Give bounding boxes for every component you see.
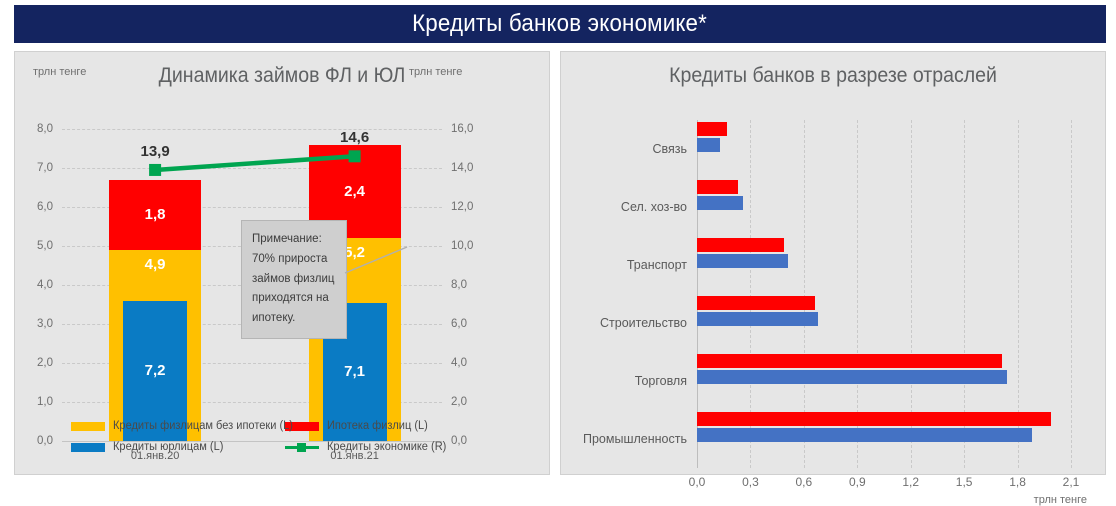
- bar-row: Торговля: [697, 352, 1071, 410]
- legend-label: Кредиты юрлицам (L): [113, 441, 223, 453]
- legend-swatch-yellow-icon: [71, 422, 105, 431]
- bar-jan-2020: [697, 254, 788, 268]
- bar-jan-2021: [697, 296, 815, 310]
- bar-row: Транспорт: [697, 236, 1071, 294]
- note-leader-line: [345, 247, 407, 273]
- x-axis-tick: 1,5: [956, 475, 973, 489]
- left-axis-tick: 6,0: [37, 201, 53, 213]
- right-axis-tick: 2,0: [451, 396, 467, 408]
- line-data-label: 14,6: [340, 129, 369, 146]
- left-axis-tick: 5,0: [37, 240, 53, 252]
- left-chart-legend: Кредиты физлицам без ипотеки (L)Ипотека …: [71, 420, 501, 453]
- x-axis-tick: 0,6: [796, 475, 813, 489]
- left-bar-group: 4,91,87,201.янв.20: [109, 129, 201, 441]
- bar-jan-2021: [697, 412, 1051, 426]
- bar-row: Строительство: [697, 294, 1071, 352]
- legend-item[interactable]: Кредиты юрлицам (L): [71, 441, 285, 453]
- right-chart-panel: Кредиты банков в разрезе отраслей трлн т…: [560, 51, 1106, 475]
- left-axis-tick: 4,0: [37, 279, 53, 291]
- bar-segment-mortgage: 1,8: [109, 180, 201, 250]
- right-axis-tick: 6,0: [451, 318, 467, 330]
- bar-jan-2021: [697, 238, 784, 252]
- right-axis-tick: 10,0: [451, 240, 473, 252]
- category-label: Промышленность: [583, 432, 687, 446]
- legend-item[interactable]: Кредиты физлицам без ипотеки (L): [71, 420, 285, 432]
- right-axis-tick: 12,0: [451, 201, 473, 213]
- bar-jan-2021: [697, 180, 738, 194]
- legend-label: Кредиты экономике (R): [327, 441, 446, 453]
- right-axis-tick: 14,0: [451, 162, 473, 174]
- category-label: Торговля: [635, 374, 687, 388]
- category-label: Сел. хоз-во: [621, 200, 687, 214]
- left-axis-tick: 0,0: [37, 435, 53, 447]
- x-axis-tick: 0,0: [689, 475, 706, 489]
- left-axis-tick: 7,0: [37, 162, 53, 174]
- bar-jan-2020: [697, 312, 818, 326]
- category-label: Транспорт: [627, 258, 687, 272]
- left-axis-tick: 3,0: [37, 318, 53, 330]
- legend-swatch-blue-icon: [71, 443, 105, 452]
- bar-jan-2020: [697, 196, 743, 210]
- page-header: Кредиты банков экономике*: [14, 5, 1106, 43]
- bar-row: Промышленность: [697, 410, 1071, 468]
- infographic-page: Кредиты банков экономике* Динамика займо…: [0, 0, 1116, 481]
- right-chart-unit-label: трлн тенге: [1034, 494, 1087, 506]
- left-axis-tick: 8,0: [37, 123, 53, 135]
- right-plot-area: трлн тенге 0,00,30,60,91,21,51,82,1Связь…: [697, 120, 1071, 468]
- bar-row: Сел. хоз-во: [697, 178, 1071, 236]
- category-label: Строительство: [600, 316, 687, 330]
- right-axis-tick: 4,0: [451, 357, 467, 369]
- bar-jan-2021: [697, 122, 727, 136]
- legend-item[interactable]: Кредиты экономике (R): [285, 441, 501, 453]
- legend-swatch-line-icon: [285, 442, 319, 453]
- left-axis-unit-label: трлн тенге: [33, 66, 86, 78]
- x-axis-tick: 1,8: [1009, 475, 1026, 489]
- legend-label: Кредиты физлицам без ипотеки (L): [113, 420, 293, 432]
- page-title: Кредиты банков экономике*: [413, 10, 708, 38]
- bar-jan-2021: [697, 354, 1002, 368]
- right-axis-unit-label: трлн тенге: [409, 66, 462, 78]
- bar-jan-2020: [697, 370, 1007, 384]
- bar-jan-2020: [697, 138, 720, 152]
- x-axis-tick: 1,2: [902, 475, 919, 489]
- bar-jan-2020: [697, 428, 1032, 442]
- right-axis-tick: 8,0: [451, 279, 467, 291]
- bar-row: Связь: [697, 120, 1071, 178]
- legend-label: Ипотека физлиц (L): [327, 420, 428, 432]
- left-axis-tick: 1,0: [37, 396, 53, 408]
- x-axis-tick: 2,1: [1063, 475, 1080, 489]
- x-axis-tick: 0,3: [742, 475, 759, 489]
- note-callout: Примечание: 70% прироста займов физлиц п…: [241, 220, 347, 339]
- right-chart-title: Кредиты банков в разрезе отраслей: [580, 64, 1086, 88]
- left-chart-panel: Динамика займов ФЛ и ЮЛ трлн тенге трлн …: [14, 51, 550, 475]
- vertical-gridline: [1071, 120, 1072, 468]
- right-axis-tick: 16,0: [451, 123, 473, 135]
- line-data-label: 13,9: [140, 143, 169, 160]
- x-axis-tick: 0,9: [849, 475, 866, 489]
- legend-item[interactable]: Ипотека физлиц (L): [285, 420, 501, 432]
- category-label: Связь: [652, 142, 687, 156]
- left-axis-tick: 2,0: [37, 357, 53, 369]
